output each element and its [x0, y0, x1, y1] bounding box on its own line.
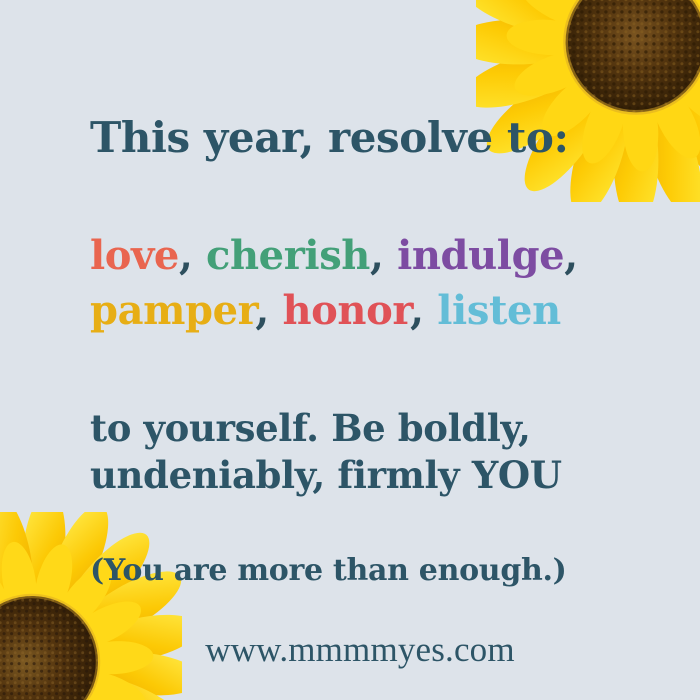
verb-separator: ,: [410, 287, 437, 334]
sunflower-center-ring: [0, 596, 98, 700]
sunflower-seed-texture: [0, 596, 98, 700]
website-url[interactable]: www.mmmmyes.com: [90, 628, 630, 672]
verb-separator: ,: [370, 232, 397, 279]
verb-pamper: pamper: [90, 287, 255, 334]
verb-cherish: cherish: [206, 232, 370, 279]
verb-separator: ,: [255, 287, 282, 334]
poster-text-block: This year, resolve to: love, cherish, in…: [90, 0, 630, 700]
verb-separator: ,: [179, 232, 206, 279]
verb-honor: honor: [282, 287, 410, 334]
verb-love: love: [90, 232, 179, 279]
aside-copy: (You are more than enough.): [90, 551, 567, 591]
verb-listen: listen: [437, 287, 561, 334]
verb-separator: ,: [564, 232, 578, 279]
body-copy-line-2: undeniably, firmly YOU: [90, 453, 562, 497]
headline: This year, resolve to:: [90, 113, 569, 163]
poster-canvas: This year, resolve to: love, cherish, in…: [0, 0, 700, 700]
sunflower-center: [0, 596, 98, 700]
verb-indulge: indulge: [397, 232, 564, 279]
body-copy-line-1: to yourself. Be boldly,: [90, 406, 531, 450]
verb-list: love, cherish, indulge, pamper, honor, l…: [90, 228, 630, 338]
body-copy: to yourself. Be boldly, undeniably, firm…: [90, 405, 562, 499]
